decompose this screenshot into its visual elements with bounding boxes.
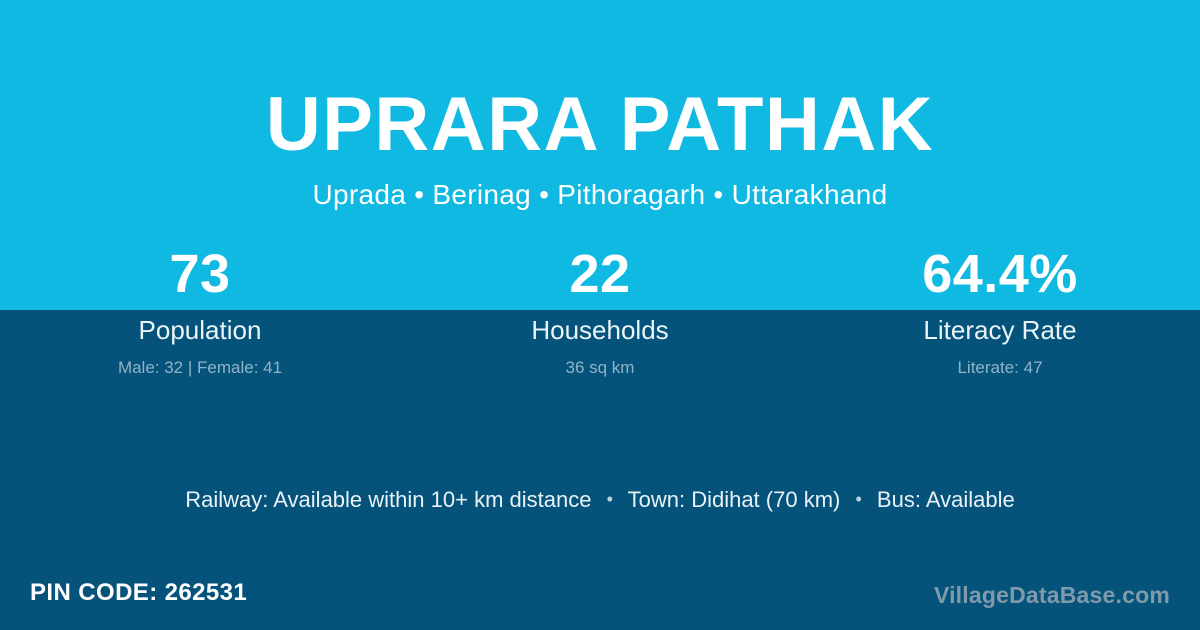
stats-row: 73 Population Male: 32 | Female: 41 22 H…: [0, 243, 1200, 379]
brand-watermark: VillageDataBase.com: [934, 580, 1170, 610]
card-footer: PIN CODE: 262531 VillageDataBase.com: [0, 566, 1200, 630]
bullet-separator-icon: •: [846, 489, 870, 509]
stat-subtext: 36 sq km: [400, 346, 800, 379]
stat-subtext: Male: 32 | Female: 41: [0, 346, 400, 379]
amenities-line: Railway: Available within 10+ km distanc…: [0, 484, 1200, 515]
amenity-town: Town: Didihat (70 km): [628, 487, 841, 512]
stat-value: 73: [0, 243, 400, 310]
bullet-separator-icon: •: [598, 489, 622, 509]
amenity-railway: Railway: Available within 10+ km distanc…: [185, 487, 591, 512]
stat-population: 73 Population Male: 32 | Female: 41: [0, 243, 400, 379]
stat-label: Households: [400, 310, 800, 346]
card-header: UPRARA PATHAK Uprada • Berinag • Pithora…: [0, 0, 1200, 212]
stat-households: 22 Households 36 sq km: [400, 243, 800, 379]
stat-label: Population: [0, 310, 400, 346]
breadcrumb: Uprada • Berinag • Pithoragarh • Uttarak…: [0, 168, 1200, 212]
village-info-card: UPRARA PATHAK Uprada • Berinag • Pithora…: [0, 0, 1200, 630]
stat-value: 64.4%: [800, 243, 1200, 310]
amenity-bus: Bus: Available: [877, 487, 1015, 512]
pin-code: PIN CODE: 262531: [30, 578, 247, 608]
stat-literacy-rate: 64.4% Literacy Rate Literate: 47: [800, 243, 1200, 379]
stat-label: Literacy Rate: [800, 310, 1200, 346]
stat-subtext: Literate: 47: [800, 346, 1200, 379]
stat-value: 22: [400, 243, 800, 310]
page-title: UPRARA PATHAK: [0, 0, 1200, 168]
